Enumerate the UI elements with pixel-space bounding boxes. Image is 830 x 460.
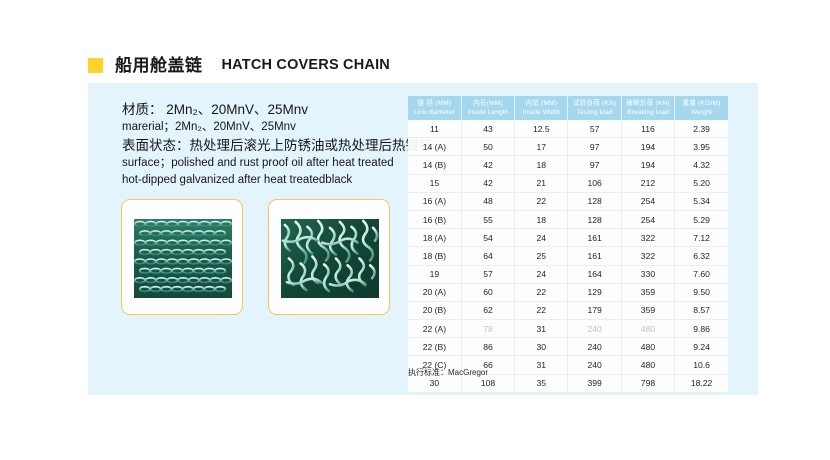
spec-text-block: 材质： 2Mn₂、20MnV、25Mnv marerial；2Mn₂、20MnV… <box>122 100 433 189</box>
table-row: 1957241643307.60 <box>408 265 728 283</box>
table-cell: 35 <box>515 374 568 392</box>
col-breaking-load-cn: 破断负荷 (KN) <box>623 99 673 108</box>
col-breaking-load-en: Breaking load <box>623 108 673 117</box>
table-cell: 194 <box>621 156 674 174</box>
col-link-diameter-en: Link diameter <box>409 108 460 117</box>
col-testing-load-en: Tesling load <box>569 108 619 117</box>
table-cell: 11 <box>408 120 461 138</box>
table-cell: 31 <box>515 320 568 338</box>
table-cell: 18 (B) <box>408 247 461 265</box>
page-title: 船用舱盖链 HATCH COVERS CHAIN <box>88 57 390 74</box>
table-cell: 50 <box>461 138 514 156</box>
table-cell: 798 <box>621 374 674 392</box>
table-cell: 24 <box>515 229 568 247</box>
col-breaking-load: 破断负荷 (KN) Breaking load <box>621 96 674 120</box>
table-cell: 5.29 <box>675 210 728 228</box>
table-cell: 16 (A) <box>408 192 461 210</box>
table-cell: 78 <box>461 320 514 338</box>
table-cell: 129 <box>568 283 621 301</box>
table-row: 18 (B)64251613226.32 <box>408 247 728 265</box>
table-cell: 161 <box>568 247 621 265</box>
col-link-diameter-cn: 链 径 (MM) <box>409 99 460 108</box>
table-row: 16 (A)48221282545.34 <box>408 192 728 210</box>
table-row: 1542211062125.20 <box>408 174 728 192</box>
table-cell: 42 <box>461 174 514 192</box>
table-cell: 55 <box>461 210 514 228</box>
table-cell: 106 <box>568 174 621 192</box>
col-link-diameter: 链 径 (MM) Link diameter <box>408 96 461 120</box>
table-body: 114312.5571162.3914 (A)5017971943.9514 (… <box>408 120 728 392</box>
table-cell: 20 (A) <box>408 283 461 301</box>
table-header-row: 链 径 (MM) Link diameter 内长(MM) Inside Len… <box>408 96 728 120</box>
table-cell: 97 <box>568 138 621 156</box>
table-row: 20 (B)62221793598.57 <box>408 301 728 319</box>
table-cell: 240 <box>568 338 621 356</box>
table-cell: 60 <box>461 283 514 301</box>
col-weight-en: Weight <box>676 108 727 117</box>
table-cell: 240 <box>568 320 621 338</box>
table-cell: 21 <box>515 174 568 192</box>
table-cell: 128 <box>568 210 621 228</box>
table-cell: 42 <box>461 156 514 174</box>
table-cell: 22 <box>515 301 568 319</box>
table-cell: 25 <box>515 247 568 265</box>
table-cell: 14 (B) <box>408 156 461 174</box>
table-cell: 57 <box>461 265 514 283</box>
chain-photo-card-1[interactable] <box>121 199 243 315</box>
col-inside-width-en: Inside Width <box>516 108 566 117</box>
table-cell: 179 <box>568 301 621 319</box>
table-cell: 48 <box>461 192 514 210</box>
table-cell: 57 <box>568 120 621 138</box>
table-row: 22 (A)78312404809.86 <box>408 320 728 338</box>
col-inside-width-cn: 内宽 (MM) <box>516 99 566 108</box>
table-cell: 18.22 <box>675 374 728 392</box>
table-cell: 480 <box>621 356 674 374</box>
table-cell: 97 <box>568 156 621 174</box>
table-cell: 14 (A) <box>408 138 461 156</box>
spec-line-surface-en2: hot-dipped galvanized after heat treated… <box>122 172 433 189</box>
col-testing-load: 试验负荷 (KN) Tesling load <box>568 96 621 120</box>
table-cell: 194 <box>621 138 674 156</box>
title-bullet-square <box>88 58 103 73</box>
table-cell: 24 <box>515 265 568 283</box>
table-cell: 31 <box>515 356 568 374</box>
table-cell: 3.95 <box>675 138 728 156</box>
table-cell: 19 <box>408 265 461 283</box>
chain-photo-2 <box>281 219 379 298</box>
table-cell: 64 <box>461 247 514 265</box>
table-cell: 18 <box>515 210 568 228</box>
table-cell: 18 (A) <box>408 229 461 247</box>
table-cell: 480 <box>621 338 674 356</box>
table-cell: 10.6 <box>675 356 728 374</box>
table-cell: 54 <box>461 229 514 247</box>
table-row: 18 (A)54241613227.12 <box>408 229 728 247</box>
table-cell: 5.20 <box>675 174 728 192</box>
spec-line-material-en: marerial；2Mn₂、20MnV、25Mnv <box>122 119 433 136</box>
table-row: 14 (B)4218971944.32 <box>408 156 728 174</box>
content-panel: 宁波长河 材质： 2Mn₂、20MnV、25Mnv marerial；2Mn₂、… <box>88 83 758 395</box>
table-cell: 212 <box>621 174 674 192</box>
table-cell: 7.12 <box>675 229 728 247</box>
table-cell: 20 (B) <box>408 301 461 319</box>
table-cell: 15 <box>408 174 461 192</box>
col-inside-width: 内宽 (MM) Inside Width <box>515 96 568 120</box>
col-weight-cn: 重量 (KG/M) <box>676 99 727 108</box>
table-cell: 7.60 <box>675 265 728 283</box>
table-cell: 254 <box>621 192 674 210</box>
table-cell: 30 <box>515 338 568 356</box>
table-cell: 164 <box>568 265 621 283</box>
table-cell: 322 <box>621 229 674 247</box>
col-inside-length-en: Inside Length <box>463 108 513 117</box>
table-cell: 9.24 <box>675 338 728 356</box>
table-cell: 161 <box>568 229 621 247</box>
col-weight: 重量 (KG/M) Weight <box>675 96 728 120</box>
col-inside-length: 内长(MM) Inside Length <box>461 96 514 120</box>
table-cell: 17 <box>515 138 568 156</box>
table-cell: 9.50 <box>675 283 728 301</box>
table-row: 22 (B)86302404809.24 <box>408 338 728 356</box>
table-cell: 359 <box>621 301 674 319</box>
table-cell: 22 (B) <box>408 338 461 356</box>
table-cell: 22 <box>515 283 568 301</box>
table-cell: 480 <box>621 320 674 338</box>
table-row: 14 (A)5017971943.95 <box>408 138 728 156</box>
table-cell: 22 (A) <box>408 320 461 338</box>
table-row: 16 (B)55181282545.29 <box>408 210 728 228</box>
spec-line-material-cn: 材质： 2Mn₂、20MnV、25Mnv <box>122 100 433 119</box>
col-inside-length-cn: 内长(MM) <box>463 99 513 108</box>
chain-texture-pile-icon <box>281 219 379 298</box>
table-cell: 330 <box>621 265 674 283</box>
page-title-en: HATCH COVERS CHAIN <box>222 58 390 73</box>
spec-table-wrap: 链 径 (MM) Link diameter 内长(MM) Inside Len… <box>408 96 728 392</box>
table-cell: 5.34 <box>675 192 728 210</box>
table-cell: 62 <box>461 301 514 319</box>
table-cell: 8.57 <box>675 301 728 319</box>
chain-texture-horizontal-icon <box>134 219 232 298</box>
table-cell: 399 <box>568 374 621 392</box>
table-cell: 43 <box>461 120 514 138</box>
table-cell: 16 (B) <box>408 210 461 228</box>
table-note: 执行标准：MacGregor <box>408 367 488 378</box>
table-cell: 359 <box>621 283 674 301</box>
chain-photo-card-2[interactable] <box>268 199 390 315</box>
table-cell: 18 <box>515 156 568 174</box>
table-cell: 9.86 <box>675 320 728 338</box>
table-cell: 128 <box>568 192 621 210</box>
table-cell: 86 <box>461 338 514 356</box>
table-cell: 12.5 <box>515 120 568 138</box>
table-cell: 2.39 <box>675 120 728 138</box>
table-cell: 322 <box>621 247 674 265</box>
table-cell: 254 <box>621 210 674 228</box>
table-cell: 6.32 <box>675 247 728 265</box>
spec-line-surface-cn: 表面状态：热处理后滚光上防锈油或热处理后热镀锌 <box>122 136 433 155</box>
spec-table: 链 径 (MM) Link diameter 内长(MM) Inside Len… <box>408 96 728 392</box>
table-cell: 22 <box>515 192 568 210</box>
table-cell: 240 <box>568 356 621 374</box>
table-cell: 116 <box>621 120 674 138</box>
spec-line-surface-en: surface；polished and rust proof oil afte… <box>122 155 433 172</box>
table-row: 114312.5571162.39 <box>408 120 728 138</box>
table-cell: 4.32 <box>675 156 728 174</box>
col-testing-load-cn: 试验负荷 (KN) <box>569 99 619 108</box>
chain-photo-1 <box>134 219 232 298</box>
table-row: 20 (A)60221293599.50 <box>408 283 728 301</box>
page-title-cn: 船用舱盖链 <box>115 57 203 74</box>
